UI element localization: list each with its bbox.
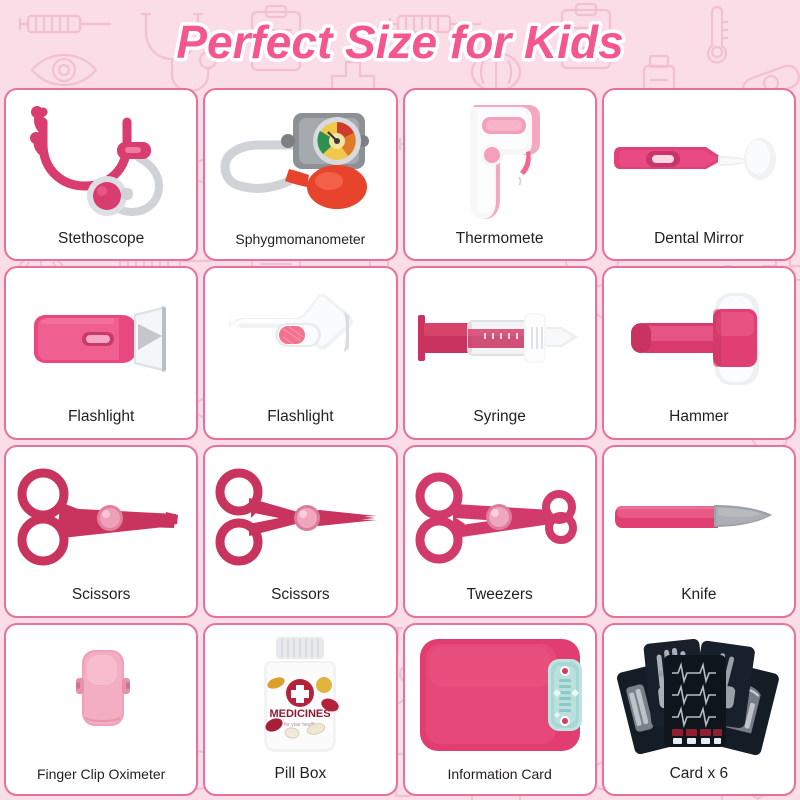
product-card-oximeter[interactable]: Finger Clip Oximeter <box>4 623 198 796</box>
tweezers-icon <box>405 447 595 588</box>
reflex-hammer-icon <box>604 268 794 409</box>
product-label: Knife <box>681 587 716 616</box>
product-card-pill-box[interactable]: MEDICINES for your health Pill Box <box>203 623 397 796</box>
product-card-stethoscope[interactable]: Stethoscope <box>4 88 198 261</box>
product-card-flashlight-pink[interactable]: Flashlight <box>4 266 198 439</box>
product-label: Pill Box <box>275 766 327 795</box>
product-card-sphygmomanometer[interactable]: Sphygmomanometer <box>203 88 397 261</box>
scissors-pointed-icon <box>205 447 395 588</box>
sphygmomanometer-icon <box>205 90 395 232</box>
product-card-xray-cards[interactable]: Card x 6 <box>602 623 796 796</box>
product-card-information-card[interactable]: Information Card <box>403 623 597 796</box>
product-label: Dental Mirror <box>654 231 744 260</box>
product-label: Finger Clip Oximeter <box>37 767 165 794</box>
flashlight-white-icon <box>205 268 395 409</box>
information-card-icon <box>405 625 595 767</box>
product-label: Thermomete <box>456 231 544 260</box>
knife-icon <box>604 447 794 588</box>
thermometer-icon <box>405 90 595 231</box>
product-label: Stethoscope <box>58 231 144 260</box>
flashlight-pink-icon <box>6 268 196 409</box>
product-card-scissors-round[interactable]: Scissors <box>4 445 198 618</box>
product-label: Information Card <box>447 767 551 794</box>
stethoscope-icon <box>6 90 196 231</box>
product-card-flashlight-white[interactable]: Flashlight <box>203 266 397 439</box>
product-label: Flashlight <box>267 409 333 438</box>
product-grid: Stethoscope <box>4 88 796 796</box>
product-card-thermometer[interactable]: Thermomete <box>403 88 597 261</box>
product-label: Syringe <box>473 409 526 438</box>
product-card-hammer[interactable]: Hammer <box>602 266 796 439</box>
product-card-tweezers[interactable]: Tweezers <box>403 445 597 618</box>
page-title: Perfect Size for Kids <box>0 0 800 86</box>
product-label: Tweezers <box>466 587 532 616</box>
page-title-text: Perfect Size for Kids <box>80 8 720 78</box>
product-label: Scissors <box>271 587 330 616</box>
dental-mirror-icon <box>604 90 794 231</box>
product-label: Flashlight <box>68 409 134 438</box>
pill-bottle-icon: MEDICINES for your health <box>205 625 395 766</box>
product-infographic: Perfect Size for Kids <box>0 0 800 800</box>
product-label: Scissors <box>72 587 131 616</box>
product-label: Sphygmomanometer <box>235 232 365 259</box>
product-card-scissors-pointed[interactable]: Scissors <box>203 445 397 618</box>
product-label: Hammer <box>669 409 728 438</box>
pill-bottle-brand: MEDICINES <box>270 708 331 720</box>
svg-text:Perfect Size for Kids: Perfect Size for Kids <box>176 16 623 68</box>
product-card-dental-mirror[interactable]: Dental Mirror <box>602 88 796 261</box>
product-label: Card x 6 <box>670 766 729 795</box>
scissors-round-icon <box>6 447 196 588</box>
syringe-icon <box>405 268 595 409</box>
oximeter-icon <box>6 625 196 767</box>
xray-cards-icon <box>604 625 794 766</box>
product-card-knife[interactable]: Knife <box>602 445 796 618</box>
product-card-syringe[interactable]: Syringe <box>403 266 597 439</box>
